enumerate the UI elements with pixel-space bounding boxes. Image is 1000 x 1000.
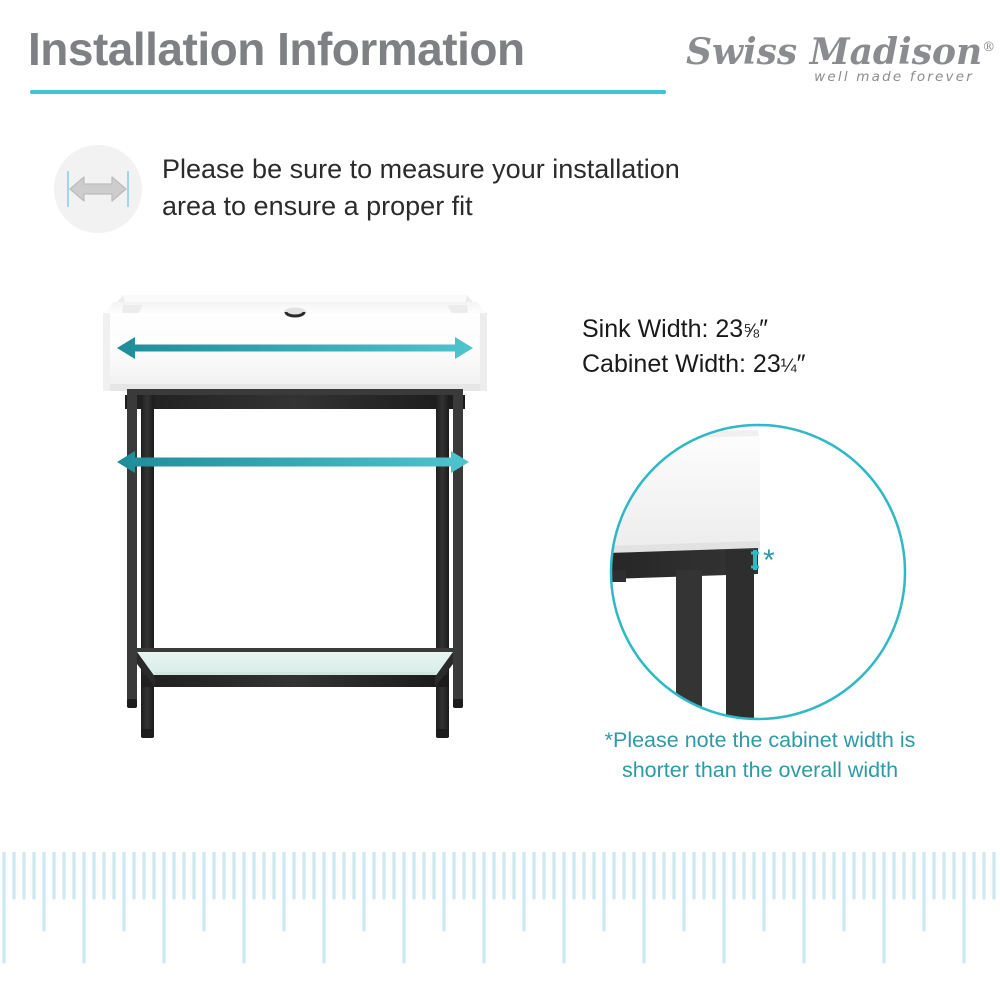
- detail-asterisk-marker: *: [763, 544, 775, 577]
- sink-width-line: Sink Width: 23⅝″: [582, 313, 962, 348]
- page-header: Installation Information Swiss Madison® …: [0, 0, 1000, 110]
- metal-frame: [125, 389, 465, 738]
- brand-tagline: well made forever: [814, 69, 974, 85]
- product-illustration: [95, 285, 495, 820]
- brand-name: Swiss Madison: [686, 31, 982, 73]
- cabinet-width-footnote: *Please note the cabinet width is shorte…: [570, 725, 950, 785]
- detail-content: *: [608, 422, 908, 722]
- cabinet-width-unit: ″: [797, 350, 806, 378]
- sink-width-label: Sink Width:: [582, 315, 708, 343]
- measure-advisory: Please be sure to measure your installat…: [50, 143, 670, 243]
- cabinet-width-value: 23: [753, 350, 781, 378]
- title-underline: [30, 90, 666, 94]
- brand-wordmark: Swiss Madison®: [686, 28, 976, 72]
- cabinet-width-label: Cabinet Width:: [582, 350, 746, 378]
- horizontal-double-arrow-icon: [54, 145, 142, 233]
- measure-advisory-text: Please be sure to measure your installat…: [162, 151, 682, 225]
- registered-trademark-icon: ®: [982, 40, 995, 55]
- cabinet-width-arrow: [117, 451, 469, 473]
- cabinet-width-detail-zoom: *: [608, 422, 908, 722]
- rear-leg-foot-right: [453, 699, 463, 708]
- sink-width-value: 23: [715, 315, 743, 343]
- cabinet-note-line-2: shorter than the overall width: [570, 755, 950, 785]
- dimension-list: Sink Width: 23⅝″ Cabinet Width: 23¼″: [582, 313, 962, 383]
- front-leg-foot-left: [141, 729, 154, 738]
- sink-width-unit: ″: [759, 315, 768, 343]
- cabinet-width-fraction: ¼: [781, 356, 797, 377]
- measuring-tape-ruler: [0, 852, 1000, 1000]
- rear-leg-foot-left: [127, 699, 137, 708]
- measure-icon-badge: [54, 145, 142, 233]
- sink-width-fraction: ⅝: [743, 321, 759, 342]
- shelf-front-rail: [141, 675, 449, 687]
- cabinet-width-line: Cabinet Width: 23¼″: [582, 348, 962, 383]
- cabinet-note-line-1: *Please note the cabinet width is: [570, 725, 950, 755]
- sink-basin: [103, 295, 487, 391]
- page-title: Installation Information: [28, 22, 525, 76]
- brand-logo: Swiss Madison® well made forever: [686, 28, 976, 92]
- front-leg-foot-right: [436, 729, 449, 738]
